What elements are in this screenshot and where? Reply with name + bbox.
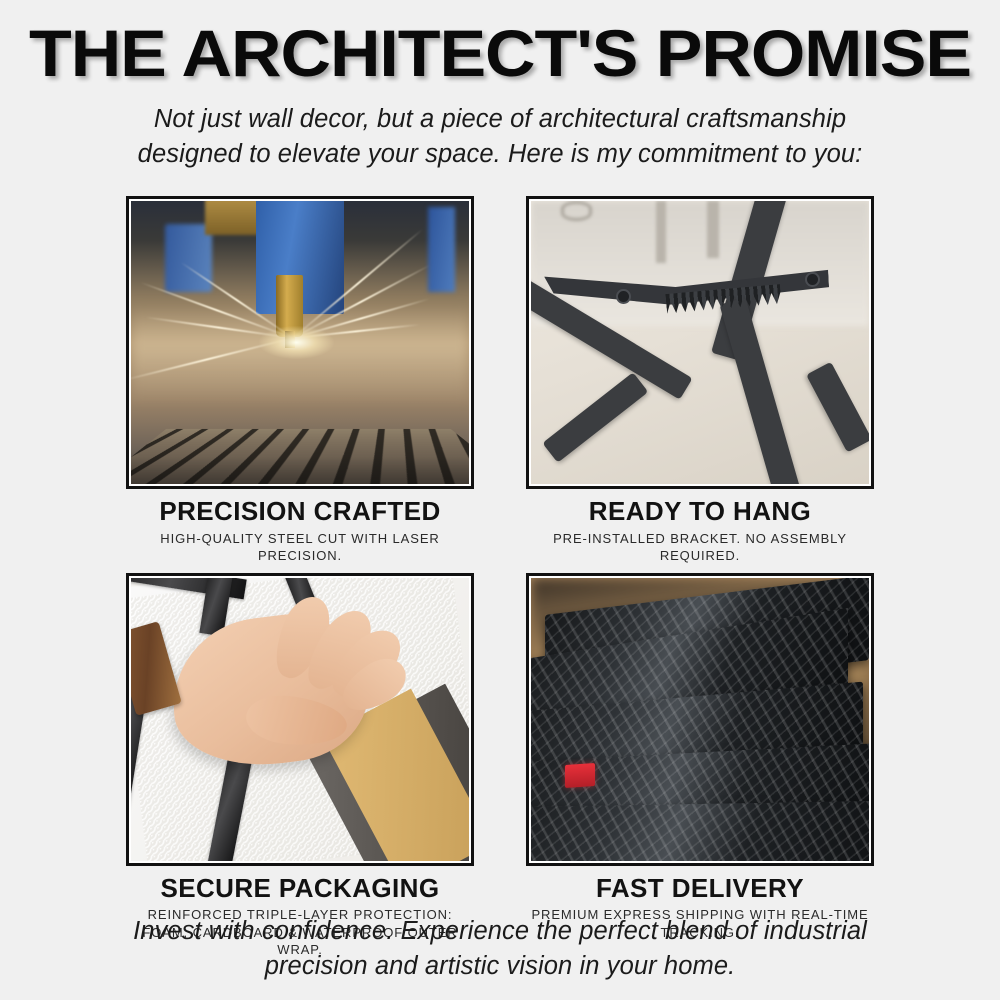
- feature-title: FAST DELIVERY: [526, 874, 874, 903]
- photo-frame: [526, 196, 874, 489]
- footer-line-1: Invest with confidence. Experience the p…: [0, 914, 1000, 949]
- wall-art-mounting-bracket-photo: [531, 201, 869, 484]
- promise-infographic-page: THE ARCHITECT'S PROMISE Not just wall de…: [0, 0, 1000, 1000]
- subtitle-line-2: designed to elevate your space. Here is …: [0, 137, 1000, 172]
- photo-frame: [526, 573, 874, 866]
- wrapped-metal-panels-stack-photo: [531, 578, 869, 861]
- laser-cutting-machine-photo: [131, 201, 469, 484]
- feature-caption: READY TO HANG PRE-INSTALLED BRACKET. NO …: [526, 489, 874, 565]
- feature-desc-line-1: PRE-INSTALLED BRACKET. NO ASSEMBLY REQUI…: [526, 530, 874, 565]
- feature-card-secure-packaging: SECURE PACKAGING REINFORCED TRIPLE-LAYER…: [126, 573, 474, 959]
- feature-caption: PRECISION CRAFTED HIGH-QUALITY STEEL CUT…: [126, 489, 474, 565]
- footer-line-2: precision and artistic vision in your ho…: [0, 949, 1000, 984]
- page-title: THE ARCHITECT'S PROMISE: [0, 20, 1000, 86]
- photo-frame: [126, 196, 474, 489]
- feature-card-precision-crafted: PRECISION CRAFTED HIGH-QUALITY STEEL CUT…: [126, 196, 474, 565]
- feature-grid: PRECISION CRAFTED HIGH-QUALITY STEEL CUT…: [0, 196, 1000, 959]
- feature-title: PRECISION CRAFTED: [126, 497, 474, 526]
- footer-statement: Invest with confidence. Experience the p…: [0, 914, 1000, 984]
- header: THE ARCHITECT'S PROMISE Not just wall de…: [0, 0, 1000, 172]
- photo-frame: [126, 573, 474, 866]
- feature-card-fast-delivery: FAST DELIVERY PREMIUM EXPRESS SHIPPING W…: [526, 573, 874, 959]
- feature-description: HIGH-QUALITY STEEL CUT WITH LASER PRECIS…: [126, 530, 474, 565]
- subtitle-line-1: Not just wall decor, but a piece of arch…: [0, 102, 1000, 137]
- hand-on-foam-packaging-photo: [131, 578, 469, 861]
- feature-title: READY TO HANG: [526, 497, 874, 526]
- feature-description: PRE-INSTALLED BRACKET. NO ASSEMBLY REQUI…: [526, 530, 874, 565]
- feature-card-ready-to-hang: READY TO HANG PRE-INSTALLED BRACKET. NO …: [526, 196, 874, 565]
- feature-title: SECURE PACKAGING: [126, 874, 474, 903]
- page-subtitle: Not just wall decor, but a piece of arch…: [0, 102, 1000, 172]
- feature-desc-line-1: HIGH-QUALITY STEEL CUT WITH LASER PRECIS…: [126, 530, 474, 565]
